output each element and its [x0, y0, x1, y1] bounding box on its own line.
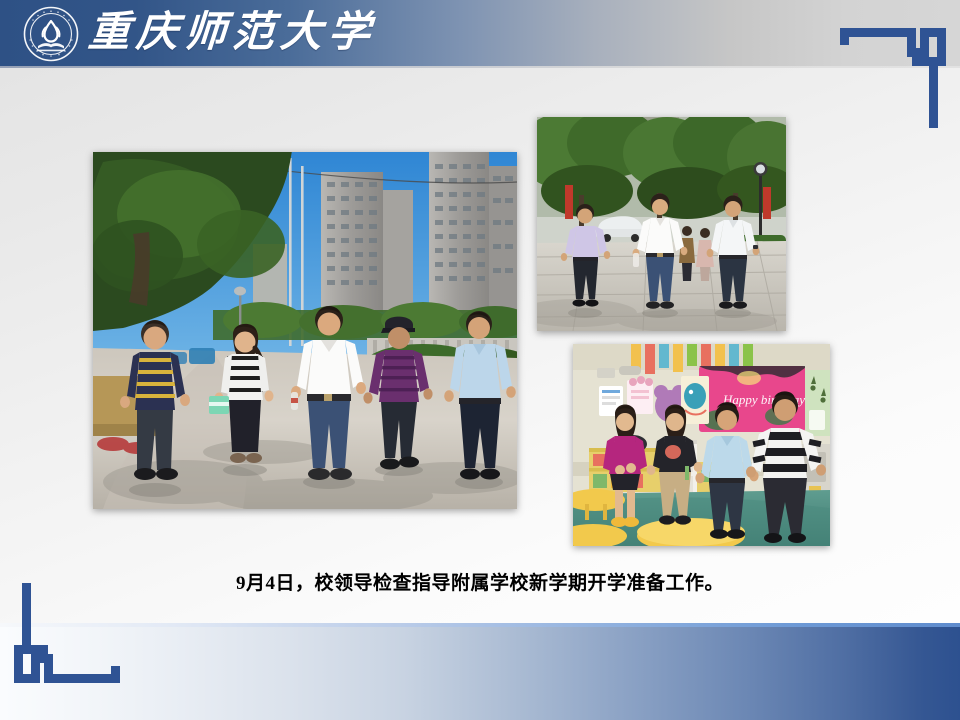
photo-leaders-walking-plaza[interactable] — [537, 117, 786, 331]
photo-kindergarten-classroom[interactable]: Happy birthday — [573, 344, 830, 546]
photo-leaders-walking-path[interactable] — [93, 152, 517, 509]
corner-ornament-bottom-left-icon — [14, 583, 120, 710]
corner-ornament-top-right-icon — [840, 6, 946, 133]
slide-caption: 9月4日，校领导检查指导附属学校新学期开学准备工作。 — [0, 568, 960, 595]
bottom-bar — [0, 627, 960, 720]
university-emblem-icon — [23, 6, 79, 62]
header-underline — [0, 66, 960, 68]
presentation-slide: 重庆师范大学 — [0, 0, 960, 720]
university-name-title: 重庆师范大学 — [86, 5, 378, 61]
